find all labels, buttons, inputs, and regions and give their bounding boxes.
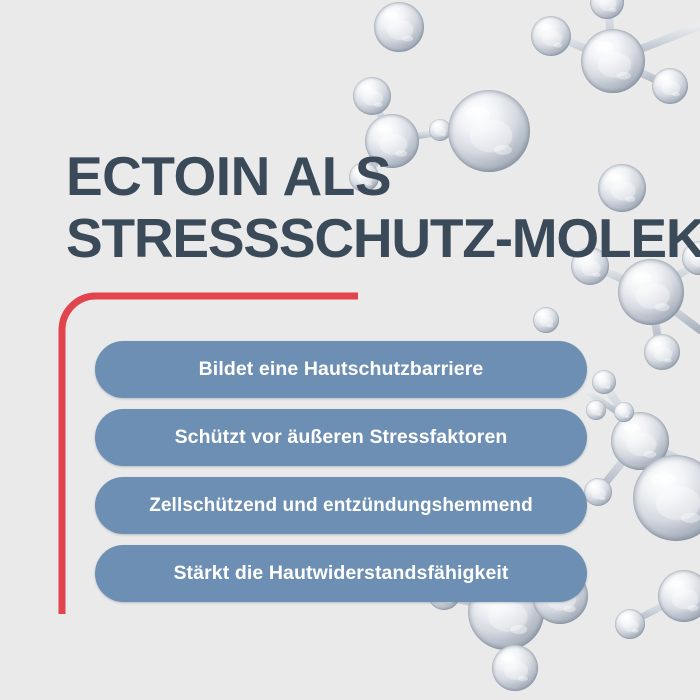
benefit-pill-4-label: Stärkt die Hautwiderstandsfähigkeit [173,562,508,585]
benefit-pill-3[interactable]: Zellschützend und entzündungshemmend [95,477,587,534]
benefit-pill-1-label: Bildet eine Hautschutzbarriere [199,358,484,381]
benefit-pill-3-label: Zellschützend und entzündungshemmend [149,495,533,517]
benefit-pill-2-label: Schützt vor äußeren Stressfaktoren [175,426,508,449]
benefit-pill-2[interactable]: Schützt vor äußeren Stressfaktoren [95,409,587,466]
benefit-pill-1[interactable]: Bildet eine Hautschutzbarriere [95,341,587,398]
page-title-line-1: ECTOIN ALS [66,145,700,207]
benefit-pill-4[interactable]: Stärkt die Hautwiderstandsfähigkeit [95,545,587,602]
infographic-canvas: ECTOIN ALS STRESSSCHUTZ-MOLEKÜL Bildet e… [0,0,700,700]
page-title-line-2: STRESSSCHUTZ-MOLEKÜL [66,207,700,269]
benefit-list: Bildet eine Hautschutzbarriere Schützt v… [95,341,587,602]
page-title: ECTOIN ALS STRESSSCHUTZ-MOLEKÜL [66,145,700,269]
